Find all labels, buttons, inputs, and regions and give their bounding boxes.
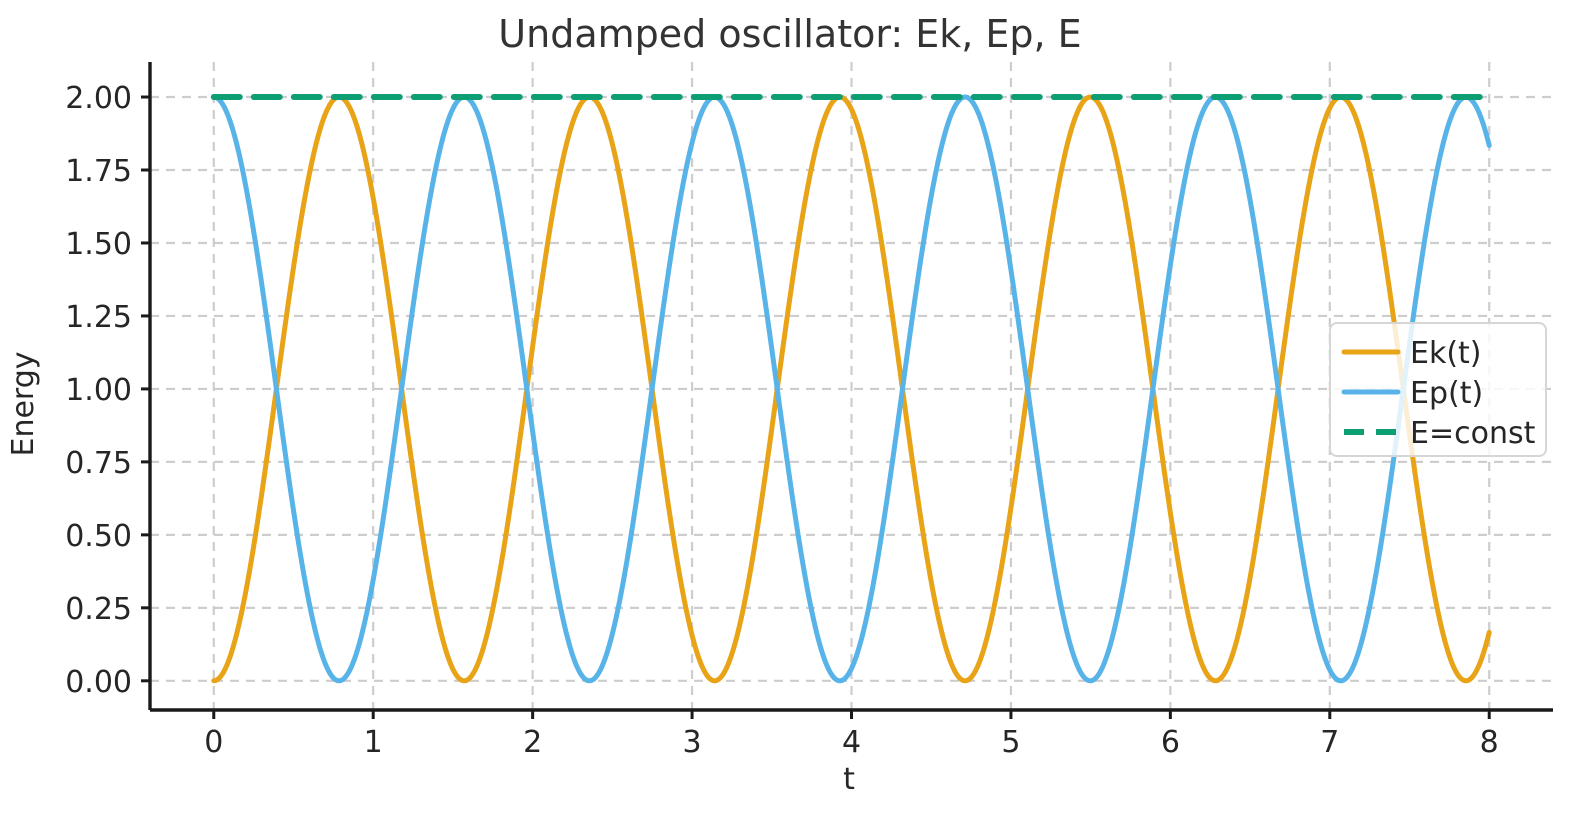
- y-tick-label-0: 0.00: [65, 665, 132, 700]
- x-axis-title: t: [843, 762, 855, 797]
- y-tick-label-4: 1.00: [65, 373, 132, 408]
- legend-label-2[interactable]: E=const: [1410, 416, 1536, 451]
- y-tick-label-5: 1.25: [65, 300, 132, 335]
- chart-title: Undamped oscillator: Ek, Ep, E: [498, 12, 1081, 56]
- x-tick-label-8: 8: [1480, 725, 1499, 760]
- legend-label-1[interactable]: Ep(t): [1410, 376, 1483, 411]
- y-tick-label-6: 1.50: [65, 227, 132, 262]
- y-tick-label-1: 0.25: [65, 592, 132, 627]
- x-tick-label-2: 2: [523, 725, 542, 760]
- x-tick-label-7: 7: [1320, 725, 1339, 760]
- chart-svg: 0123456780.000.250.500.751.001.251.501.7…: [0, 0, 1580, 819]
- legend-label-0[interactable]: Ek(t): [1410, 336, 1482, 371]
- legend[interactable]: Ek(t)Ep(t)E=const: [1330, 323, 1546, 456]
- x-tick-label-3: 3: [683, 725, 702, 760]
- figure-canvas: 0123456780.000.250.500.751.001.251.501.7…: [0, 0, 1580, 819]
- x-tick-label-0: 0: [204, 725, 223, 760]
- y-tick-label-7: 1.75: [65, 154, 132, 189]
- x-tick-label-6: 6: [1161, 725, 1180, 760]
- x-tick-label-5: 5: [1001, 725, 1020, 760]
- x-tick-label-1: 1: [364, 725, 383, 760]
- y-tick-label-8: 2.00: [65, 81, 132, 116]
- y-tick-label-3: 0.75: [65, 446, 132, 481]
- x-tick-label-4: 4: [842, 725, 861, 760]
- y-axis-title: Energy: [6, 351, 41, 456]
- y-tick-label-2: 0.50: [65, 519, 132, 554]
